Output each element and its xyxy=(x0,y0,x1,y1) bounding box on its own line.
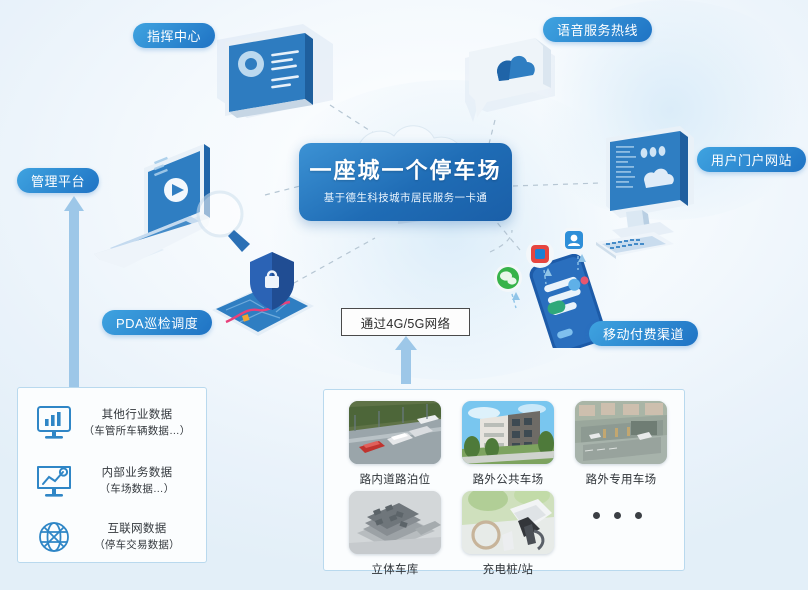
parking-card[interactable]: 路内道路泊位 xyxy=(349,401,441,487)
thumbnail-ev-charging-station xyxy=(462,491,554,554)
parking-card[interactable]: 立体车库 xyxy=(349,491,441,577)
pda-shield-map-art xyxy=(206,248,341,343)
label-text: PDA巡检调度 xyxy=(116,313,198,332)
monitor-bar-chart-icon xyxy=(32,402,76,444)
data-source-text: 互联网数据 （停车交易数据） xyxy=(76,521,198,553)
label-command-center[interactable]: 指挥中心 xyxy=(133,23,215,48)
parking-card-caption: 路内道路泊位 xyxy=(349,471,441,487)
wechat-pay-badge xyxy=(494,264,522,292)
banner-title: 一座城一个停车场 xyxy=(309,159,501,183)
data-source-text: 内部业务数据 （车场数据…） xyxy=(76,465,198,497)
data-source-title: 互联网数据 xyxy=(76,521,198,538)
parking-types-panel: 路内道路泊位 xyxy=(323,389,685,571)
data-source-item[interactable]: 其他行业数据 （车管所车辆数据…） xyxy=(32,402,198,444)
parking-card-caption: 立体车库 xyxy=(349,561,441,577)
label-text: 用户门户网站 xyxy=(711,150,792,169)
parking-card[interactable]: 路外公共车场 xyxy=(462,401,554,487)
network-box-label: 通过4G/5G网络 xyxy=(361,313,451,332)
monitor-line-chart-icon xyxy=(32,460,76,502)
parking-card[interactable]: 路外专用车场 xyxy=(575,401,667,487)
network-up-arrow xyxy=(386,336,426,386)
infographic-canvas: 一座城一个停车场 基于德生科技城市居民服务一卡通 xyxy=(0,0,808,590)
alipay-badge xyxy=(526,240,554,268)
more-dot xyxy=(614,512,621,519)
thumbnail-dedicated-parking-lot xyxy=(575,401,667,464)
data-source-item[interactable]: 内部业务数据 （车场数据…） xyxy=(32,460,198,502)
more-dot xyxy=(635,512,642,519)
label-mobile-payment[interactable]: 移动付费渠道 xyxy=(589,321,698,346)
label-user-portal[interactable]: 用户门户网站 xyxy=(697,147,806,172)
data-source-item[interactable]: 互联网数据 （停车交易数据） xyxy=(32,516,198,558)
label-text: 管理平台 xyxy=(31,171,85,190)
app-pay-badge xyxy=(560,228,588,254)
parking-card-caption: 路外专用车场 xyxy=(575,471,667,487)
data-source-detail: （停车交易数据） xyxy=(76,538,198,553)
network-box: 通过4G/5G网络 xyxy=(341,308,470,336)
label-management-platform[interactable]: 管理平台 xyxy=(17,168,99,193)
data-source-detail: （车管所车辆数据…） xyxy=(76,424,198,439)
more-dot xyxy=(593,512,600,519)
parking-card-caption: 充电桩/站 xyxy=(462,561,554,577)
data-source-title: 其他行业数据 xyxy=(76,407,198,424)
label-voice-hotline[interactable]: 语音服务热线 xyxy=(543,17,652,42)
parking-card[interactable]: 充电桩/站 xyxy=(462,491,554,577)
data-sources-panel: 其他行业数据 （车管所车辆数据…） 内部业务数据 （车场数据…） xyxy=(17,387,207,563)
label-text: 语音服务热线 xyxy=(557,20,638,39)
thumbnail-on-street-parking xyxy=(349,401,441,464)
label-text: 指挥中心 xyxy=(147,26,201,45)
thumbnail-public-parking-building xyxy=(462,401,554,464)
thumbnail-multi-level-garage xyxy=(349,491,441,554)
label-text: 移动付费渠道 xyxy=(603,324,684,343)
more-indicator xyxy=(593,512,642,519)
data-source-text: 其他行业数据 （车管所车辆数据…） xyxy=(76,407,198,439)
data-source-detail: （车场数据…） xyxy=(76,482,198,497)
parking-card-caption: 路外公共车场 xyxy=(462,471,554,487)
label-pda-inspection[interactable]: PDA巡检调度 xyxy=(102,310,212,335)
banner-subtitle: 基于德生科技城市居民服务一卡通 xyxy=(324,190,488,205)
globe-network-icon xyxy=(32,516,76,558)
magnifier xyxy=(198,192,250,252)
central-banner: 一座城一个停车场 基于德生科技城市居民服务一卡通 xyxy=(299,143,512,221)
data-source-title: 内部业务数据 xyxy=(76,465,198,482)
